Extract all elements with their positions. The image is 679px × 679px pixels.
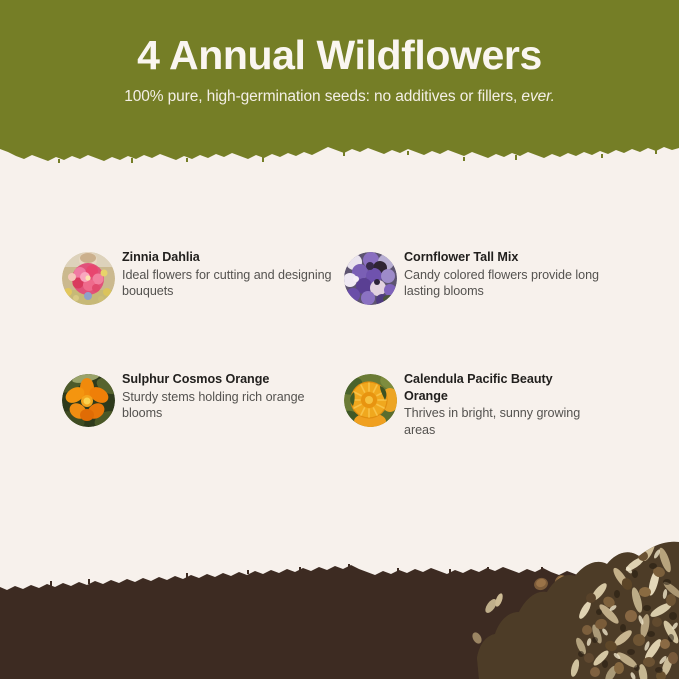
list-item: Calendula Pacific Beauty Orange Thrives … [344,371,626,493]
feature-list: Zinnia Dahlia Ideal flowers for cutting … [62,249,622,493]
cornflower-mix-photo-icon [344,252,397,305]
orange-cosmos-photo-icon [62,374,115,427]
feature-text-block: Sulphur Cosmos Orange Sturdy stems holdi… [115,371,332,422]
orange-calendula-photo-icon [344,374,397,427]
feature-title: Zinnia Dahlia [122,249,307,266]
feature-text-block: Zinnia Dahlia Ideal flowers for cutting … [115,249,332,300]
header-band: 4 Annual Wildflowers 100% pure, high-ger… [0,0,679,168]
page-title: 4 Annual Wildflowers [0,0,679,78]
page-subtitle: 100% pure, high-germination seeds: no ad… [0,78,679,106]
wildflower-seed-infographic: 4 Annual Wildflowers 100% pure, high-ger… [0,0,679,679]
header-text-group: 4 Annual Wildflowers 100% pure, high-ger… [0,0,679,106]
list-item: Sulphur Cosmos Orange Sturdy stems holdi… [62,371,344,493]
footer-band [0,559,679,679]
feature-text-block: Calendula Pacific Beauty Orange Thrives … [397,371,614,439]
feature-description: Candy colored flowers provide long lasti… [404,267,614,300]
subtitle-emphasis-text: ever. [521,88,554,105]
feature-title: Sulphur Cosmos Orange [122,371,307,388]
feature-description: Sturdy stems holding rich orange blooms [122,389,332,422]
subtitle-lead-text: 100% pure, high-germination seeds: no ad… [124,88,521,105]
list-item: Zinnia Dahlia Ideal flowers for cutting … [62,249,344,371]
zinnia-bouquet-photo-icon [62,252,115,305]
list-item: Cornflower Tall Mix Candy colored flower… [344,249,626,371]
feature-text-block: Cornflower Tall Mix Candy colored flower… [397,249,614,300]
feature-title: Cornflower Tall Mix [404,249,589,266]
feature-title: Calendula Pacific Beauty Orange [404,371,589,404]
footer-torn-edge-shape [0,559,679,679]
feature-description: Thrives in bright, sunny growing areas [404,405,614,438]
feature-description: Ideal flowers for cutting and designing … [122,267,332,300]
